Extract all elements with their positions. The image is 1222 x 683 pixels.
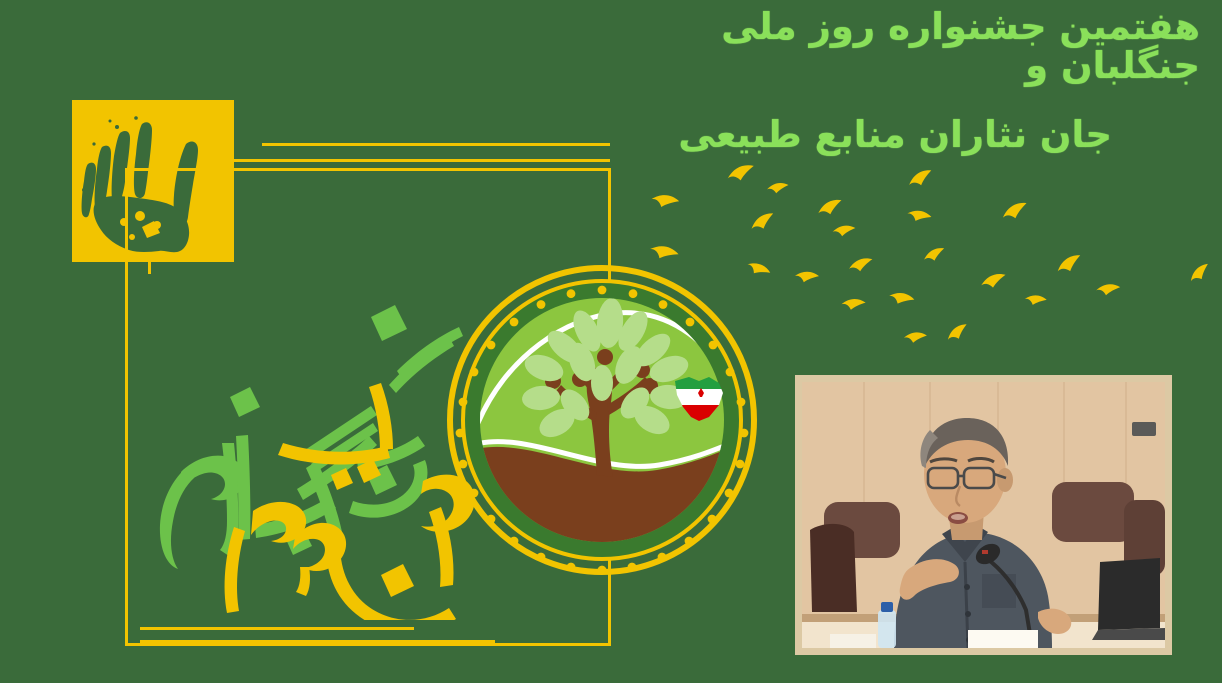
header-title-line-1: هفتمین جشنواره روز ملی جنگلبان و (594, 8, 1204, 86)
frame-accent-line-top-2 (222, 159, 610, 162)
frame-tick-mark (148, 258, 151, 274)
speaker-photo-illustration (802, 382, 1165, 648)
speaker-photo (795, 375, 1172, 655)
forest-tree-emblem (447, 265, 757, 575)
header-title-line-2: جان نثاران منابع طبیعی (594, 116, 1204, 155)
frame-accent-line-bottom-2 (140, 640, 495, 643)
frame-accent-line-bottom-1 (140, 627, 414, 630)
poster-canvas: هفتمین جشنواره روز ملی جنگلبان و جان نثا… (0, 0, 1222, 683)
frame-accent-line-top-1 (262, 143, 610, 146)
slogan-yellow-word (225, 383, 475, 620)
header-title-block: هفتمین جشنواره روز ملی جنگلبان و جان نثا… (594, 8, 1204, 155)
slogan-calligraphy: من هم یک جنگلبانم (135, 275, 475, 620)
